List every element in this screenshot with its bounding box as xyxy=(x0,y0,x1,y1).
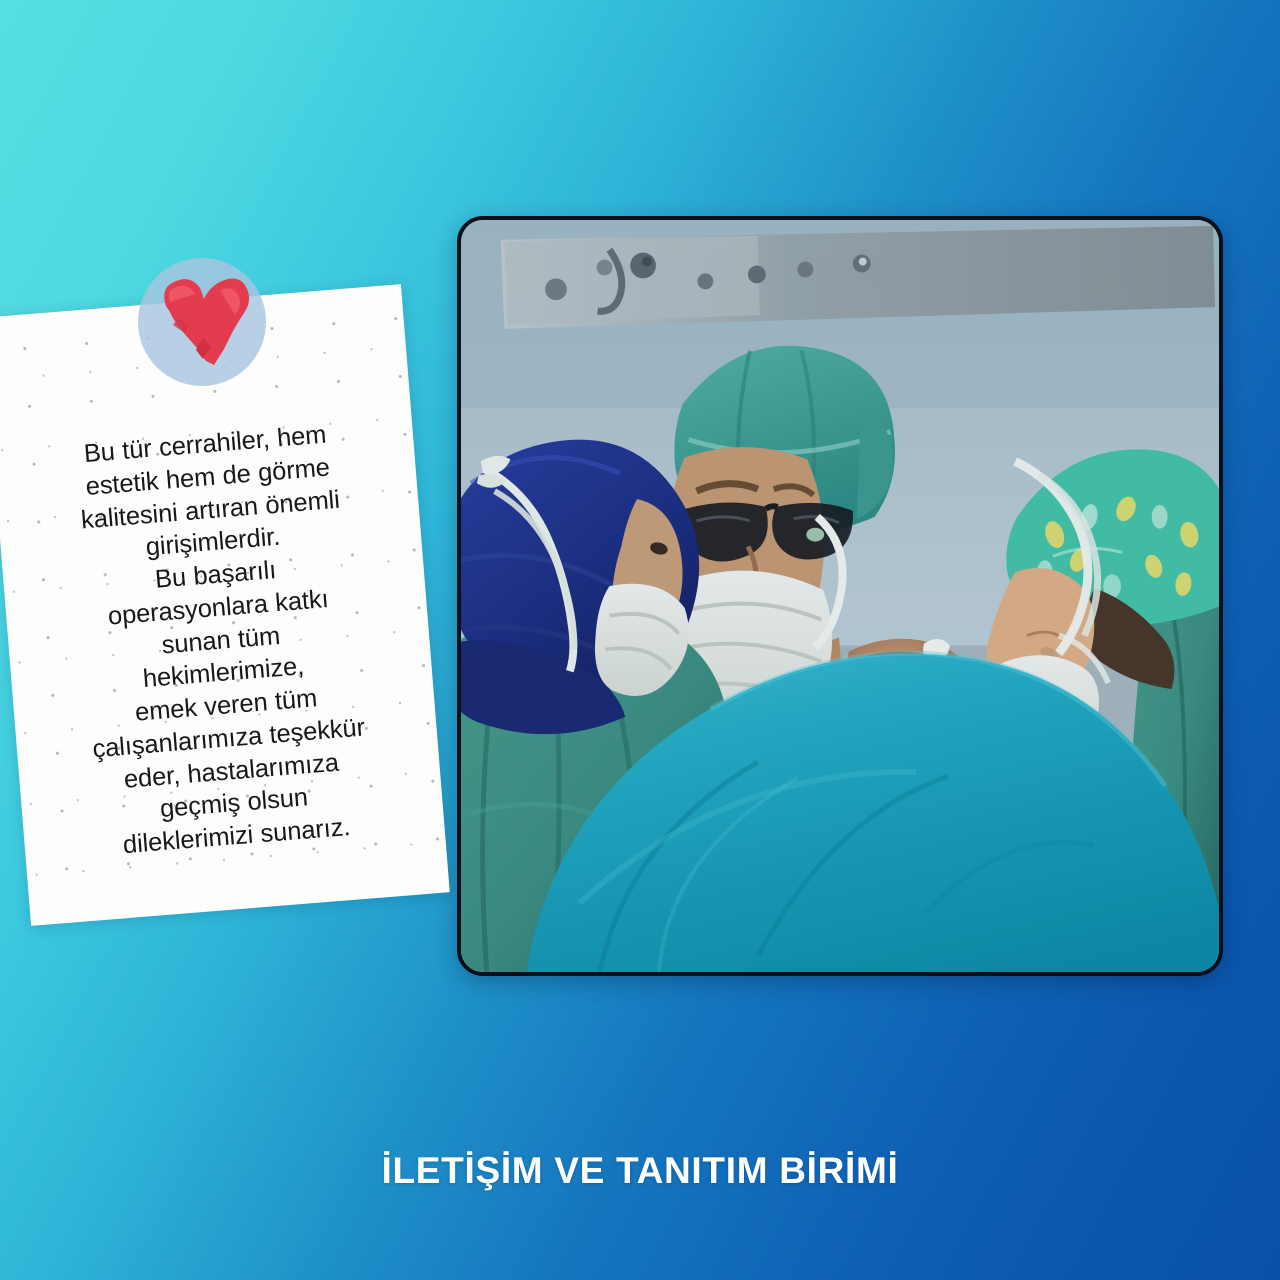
heart-badge-circle xyxy=(138,258,266,386)
poster-canvas: Bu tür cerrahiler, hem estetik hem de gö… xyxy=(0,0,1280,1280)
surgery-photo xyxy=(461,220,1219,972)
footer-caption: İLETİŞİM VE TANITIM BİRİMİ xyxy=(0,1150,1280,1192)
note-card-text: Bu tür cerrahiler, hem estetik hem de gö… xyxy=(10,413,431,869)
torn-paper-heart-icon xyxy=(150,272,254,372)
surgery-photo-frame xyxy=(457,216,1223,976)
